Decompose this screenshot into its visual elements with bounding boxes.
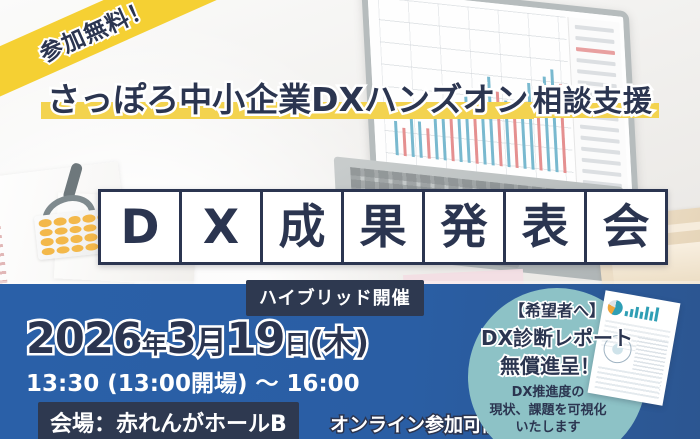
event-name-char: 成 <box>260 189 344 265</box>
promo-eyebrow: 【希望者へ】 <box>468 297 646 321</box>
headline-line-1: さっぽろ中小企業DXハンズオン <box>47 73 528 121</box>
event-name-char: 会 <box>584 189 668 265</box>
event-banner: 参加無料！ さっぽろ中小企業DXハンズオン 相談支援 D X 成 果 発 表 会… <box>0 0 700 439</box>
headline-text-2: 相談支援 <box>533 78 653 120</box>
event-date: 2026年3月19日(木) <box>26 314 369 364</box>
date-day-unit: 日 <box>284 330 309 359</box>
dx-report-promo: 【希望者へ】 DX診断レポート 無償進呈！ DX推進度の 現状、課題を可視化 い… <box>468 288 646 439</box>
promo-subtitle: 無償進呈！ <box>468 350 632 379</box>
promo-title: DX診断レポート <box>464 322 650 351</box>
date-month-unit: 月 <box>196 325 227 361</box>
event-name-char: X <box>179 189 263 265</box>
event-name-boxes: D X 成 果 発 表 会 <box>98 189 668 265</box>
date-weekday: (木) <box>309 325 368 361</box>
headline-group: さっぽろ中小企業DXハンズオン 相談支援 <box>0 72 700 121</box>
date-year: 2026 <box>26 314 142 364</box>
event-name-char: 発 <box>422 189 506 265</box>
event-name-char: 表 <box>503 189 587 265</box>
promo-description: DX推進度の 現状、課題を可視化 いたします <box>472 384 624 437</box>
date-month: 3 <box>167 314 196 364</box>
hybrid-format-badge: ハイブリッド開催 <box>246 280 424 316</box>
date-year-unit: 年 <box>142 330 167 359</box>
headline-line-2: 相談支援 <box>533 78 653 120</box>
venue-badge: 会場：赤れんがホールB <box>38 402 299 439</box>
event-time: 13:30 (13:00開場) 〜 16:00 <box>26 364 360 398</box>
date-day: 19 <box>227 314 285 364</box>
event-name-char: D <box>98 189 182 265</box>
headline-text-1: さっぽろ中小企業DXハンズオン <box>47 73 528 121</box>
event-name-char: 果 <box>341 189 425 265</box>
